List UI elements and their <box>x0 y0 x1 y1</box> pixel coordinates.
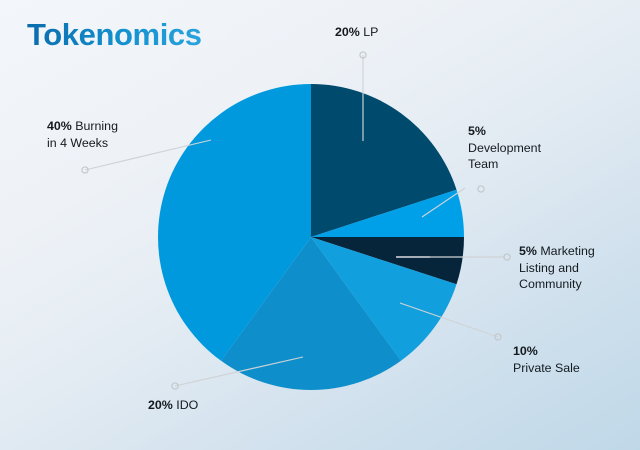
tokenomics-pie-chart <box>0 0 640 450</box>
pie-label-lp-text: LP <box>360 25 379 39</box>
leader-dot-development-team <box>478 186 484 192</box>
pie-label-burning: 40% Burning in 4 Weeks <box>47 118 118 151</box>
pie-label-development-team: 5% Development Team <box>468 123 541 173</box>
pie-label-development-team-text: Development Team <box>468 141 541 172</box>
pie-label-ido: 20% IDO <box>148 397 198 414</box>
pie-label-marketing-percent: 5% <box>519 244 537 258</box>
pie-label-private-sale-percent: 10% <box>513 344 538 358</box>
page-title: Tokenomics <box>27 17 202 53</box>
pie-label-development-team-percent: 5% <box>468 124 486 138</box>
pie-label-burning-percent: 40% <box>47 119 72 133</box>
pie-label-ido-text: IDO <box>173 398 198 412</box>
pie-label-private-sale-text: Private Sale <box>513 361 580 375</box>
pie-label-lp-percent: 20% <box>335 25 360 39</box>
pie-label-lp: 20% LP <box>335 24 378 41</box>
pie-label-ido-percent: 20% <box>148 398 173 412</box>
pie-label-marketing: 5% Marketing Listing and Community <box>519 243 595 293</box>
pie-label-private-sale: 10% Private Sale <box>513 343 580 376</box>
